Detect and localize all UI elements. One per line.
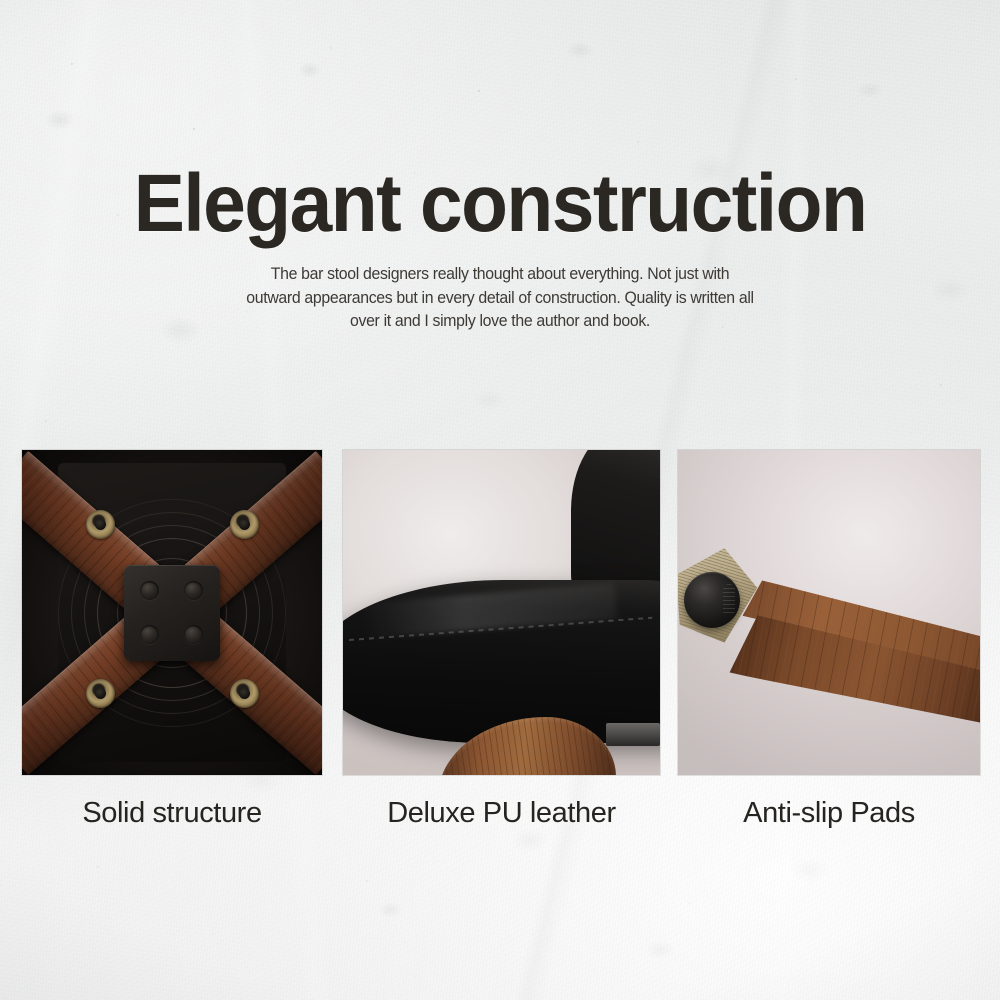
brass-washer-bolt-top-left [86, 510, 115, 539]
feature-photo-anti-slip-pads [678, 450, 980, 775]
metal-mounting-plate [124, 565, 220, 661]
feature-item-deluxe-pu-leather: Deluxe PU leather [343, 450, 660, 830]
metal-bracket [606, 723, 660, 746]
feature-caption-solid-structure: Solid structure [22, 797, 322, 830]
plate-screw-bottom-left [140, 625, 159, 644]
plate-screw-bottom-right [184, 625, 203, 644]
brass-washer-bolt-bottom-right [230, 679, 259, 708]
feature-item-anti-slip-pads: Anti-slip Pads [678, 450, 980, 830]
promo-banner: Elegant construction The bar stool desig… [0, 0, 1000, 1000]
feature-item-solid-structure: Solid structure [22, 450, 322, 830]
page-subtitle: The bar stool designers really thought a… [242, 262, 758, 333]
plate-screw-top-left [140, 581, 159, 600]
feature-gallery: Solid structure Deluxe PU leather [0, 450, 1000, 850]
feature-caption-deluxe-pu-leather: Deluxe PU leather [343, 797, 660, 830]
brass-washer-bolt-bottom-left [86, 679, 115, 708]
feature-caption-anti-slip-pads: Anti-slip Pads [678, 797, 980, 830]
feature-photo-solid-structure [22, 450, 322, 775]
brass-washer-bolt-top-right [230, 510, 259, 539]
plate-screw-top-right [184, 581, 203, 600]
feature-photo-deluxe-pu-leather [343, 450, 660, 775]
page-title: Elegant construction [33, 163, 968, 245]
anti-slip-rubber-pad [684, 572, 740, 628]
